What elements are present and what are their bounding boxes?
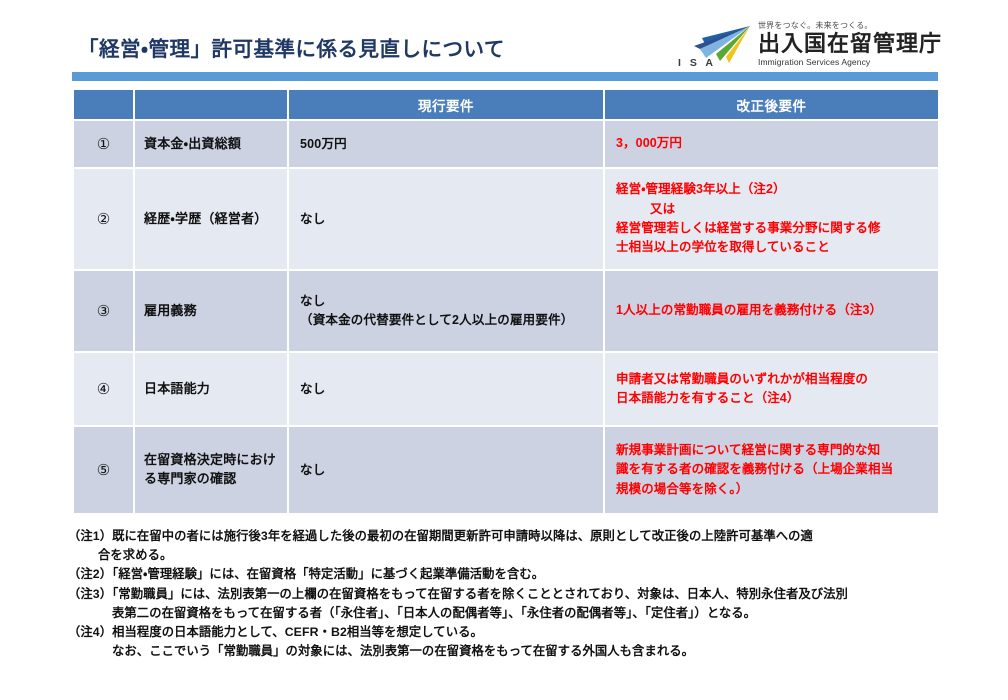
row-current-requirement: なし bbox=[288, 426, 604, 514]
table-body: ① 資本金・出資総額 500万円 3，000万円 ② 経歴・学歴（経営者） なし… bbox=[73, 120, 939, 514]
revised-line: 経営・管理経験3年以上（注2） bbox=[616, 180, 927, 199]
row-number: ④ bbox=[73, 352, 134, 426]
revised-line: 3，000万円 bbox=[616, 134, 682, 153]
row-number: ⑤ bbox=[73, 426, 134, 514]
row-item-label: 日本語能力 bbox=[134, 352, 288, 426]
row-number: ① bbox=[73, 120, 134, 168]
column-header-revised: 改正後要件 bbox=[604, 89, 939, 120]
current-line: なし bbox=[300, 380, 325, 399]
table-row: ④ 日本語能力 なし 申請者又は常勤職員のいずれかが相当程度の 日本語能力を有す… bbox=[73, 352, 939, 426]
column-header-current: 現行要件 bbox=[288, 89, 604, 120]
isa-paper-plane-logo-icon: I S A bbox=[676, 24, 754, 68]
footnote-line: （注1）既に在留中の者には施行後3年を経過した後の最初の在留期間更新許可申請時以… bbox=[68, 529, 813, 543]
footnote-note1: （注1）既に在留中の者には施行後3年を経過した後の最初の在留期間更新許可申請時以… bbox=[68, 527, 958, 564]
row-number: ③ bbox=[73, 270, 134, 352]
footnote-note3: （注3）「常勤職員」には、法別表第一の上欄の在留資格をもって在留する者を除くこと… bbox=[68, 585, 958, 622]
requirements-comparison-table: 現行要件 改正後要件 ① 資本金・出資総額 500万円 3，000万円 ② 経歴… bbox=[72, 88, 940, 515]
row-item-label: 資本金・出資総額 bbox=[134, 120, 288, 168]
table-row: ③ 雇用義務 なし （資本金の代替要件として2人以上の雇用要件） 1人以上の常勤… bbox=[73, 270, 939, 352]
footnote-line: 合を求める。 bbox=[68, 546, 958, 565]
table-header: 現行要件 改正後要件 bbox=[73, 89, 939, 120]
table-row: ⑤ 在留資格決定時における専門家の確認 なし 新規事業計画について経営に関する専… bbox=[73, 426, 939, 514]
row-current-requirement: 500万円 bbox=[288, 120, 604, 168]
row-revised-requirement: 3，000万円 bbox=[604, 120, 939, 168]
row-current-requirement: なし bbox=[288, 352, 604, 426]
agency-name-en: Immigration Services Agency bbox=[758, 57, 942, 67]
footnote-note2: （注2）「経営・管理経験」には、在留資格「特定活動」に基づく起業準備活動を含む。 bbox=[68, 565, 958, 584]
row-item-label: 在留資格決定時における専門家の確認 bbox=[134, 426, 288, 514]
row-revised-requirement: 新規事業計画について経営に関する専門的な知 識を有する者の確認を義務付ける（上場… bbox=[604, 426, 939, 514]
header-divider-rule bbox=[72, 72, 938, 81]
isa-logo: I S A 世界をつなぐ。未来をつくる。 出入国在留管理庁 Immigratio… bbox=[676, 22, 942, 68]
column-header-item bbox=[134, 89, 288, 120]
revised-line: 識を有する者の確認を義務付ける（上場企業相当 bbox=[616, 460, 927, 479]
page-header: 「経営・管理」許可基準に係る見直しについて I S A 世界をつなぐ。未来をつく… bbox=[0, 0, 1008, 72]
logo-tagline: 世界をつなぐ。未来をつくる。 bbox=[758, 20, 942, 31]
row-number: ② bbox=[73, 168, 134, 270]
revised-line: 経営管理若しくは経営する事業分野に関する修 bbox=[616, 219, 927, 238]
agency-name-jp: 出入国在留管理庁 bbox=[758, 32, 942, 55]
footnote-line: （注4）相当程度の日本語能力として、CEFR・B2相当等を想定している。 bbox=[68, 625, 483, 639]
page-title: 「経営・管理」許可基準に係る見直しについて bbox=[78, 32, 505, 62]
column-header-number bbox=[73, 89, 134, 120]
isa-abbreviation: I S A bbox=[678, 57, 716, 69]
current-line: なし bbox=[300, 210, 325, 229]
current-line: なし bbox=[300, 461, 325, 480]
row-item-label: 雇用義務 bbox=[134, 270, 288, 352]
footnote-line: 表第二の在留資格をもって在留する者（「永住者」、「日本人の配偶者等」、「永住者の… bbox=[68, 604, 958, 623]
table-row: ① 資本金・出資総額 500万円 3，000万円 bbox=[73, 120, 939, 168]
revised-line: 規模の場合等を除く。） bbox=[616, 480, 927, 499]
revised-line: 新規事業計画について経営に関する専門的な知 bbox=[616, 441, 927, 460]
row-item-label: 経歴・学歴（経営者） bbox=[134, 168, 288, 270]
footnote-line: （注3）「常勤職員」には、法別表第一の上欄の在留資格をもって在留する者を除くこと… bbox=[68, 587, 848, 601]
current-line: （資本金の代替要件として2人以上の雇用要件） bbox=[300, 311, 592, 330]
row-revised-requirement: 申請者又は常勤職員のいずれかが相当程度の 日本語能力を有すること（注4） bbox=[604, 352, 939, 426]
revised-line: 日本語能力を有すること（注4） bbox=[616, 389, 927, 408]
current-line: 500万円 bbox=[300, 135, 347, 154]
current-line: なし bbox=[300, 292, 592, 311]
footnote-note4: （注4）相当程度の日本語能力として、CEFR・B2相当等を想定している。 なお、… bbox=[68, 623, 958, 660]
footnote-line: なお、ここでいう「常勤職員」の対象には、法別表第一の在留資格をもって在留する外国… bbox=[68, 642, 958, 661]
footnote-line: （注2）「経営・管理経験」には、在留資格「特定活動」に基づく起業準備活動を含む。 bbox=[68, 567, 544, 581]
row-current-requirement: なし （資本金の代替要件として2人以上の雇用要件） bbox=[288, 270, 604, 352]
row-revised-requirement: 1人以上の常勤職員の雇用を義務付ける（注3） bbox=[604, 270, 939, 352]
row-revised-requirement: 経営・管理経験3年以上（注2） 又は 経営管理若しくは経営する事業分野に関する修… bbox=[604, 168, 939, 270]
revised-line: 又は bbox=[616, 200, 927, 219]
revised-line: 士相当以上の学位を取得していること bbox=[616, 238, 927, 257]
revised-line: 1人以上の常勤職員の雇用を義務付ける（注3） bbox=[616, 301, 882, 320]
table-header-row: 現行要件 改正後要件 bbox=[73, 89, 939, 120]
table-row: ② 経歴・学歴（経営者） なし 経営・管理経験3年以上（注2） 又は 経営管理若… bbox=[73, 168, 939, 270]
footnotes-section: （注1）既に在留中の者には施行後3年を経過した後の最初の在留期間更新許可申請時以… bbox=[68, 527, 958, 662]
row-current-requirement: なし bbox=[288, 168, 604, 270]
revised-line: 申請者又は常勤職員のいずれかが相当程度の bbox=[616, 370, 927, 389]
